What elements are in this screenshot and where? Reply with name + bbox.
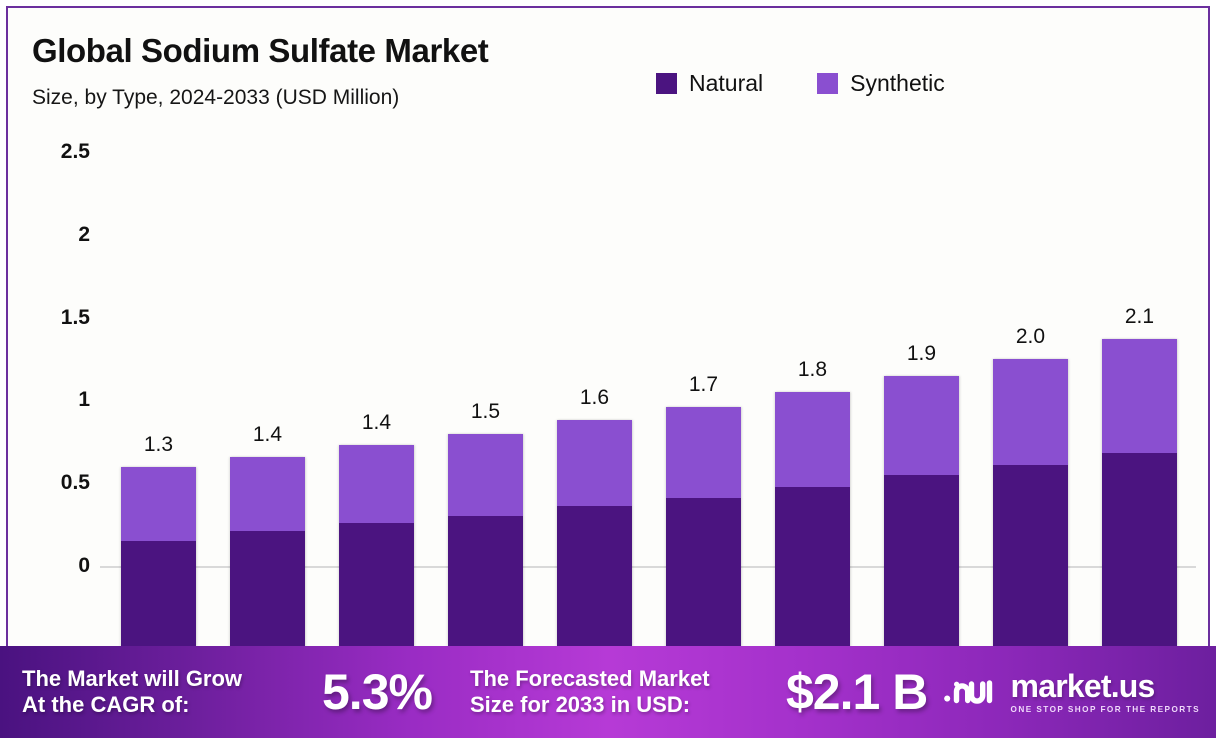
cagr-caption: The Market will Grow At the CAGR of: [22,666,242,718]
stacked-bar[interactable] [448,434,523,682]
bar-series-container: 1.31.41.41.51.61.71.81.92.02.1 [104,128,1194,730]
bar-group[interactable]: 1.9 [884,376,959,682]
y-axis-tick: 1.5 [61,306,90,330]
stacked-bar[interactable] [884,376,959,682]
legend-swatch-natural [656,73,677,94]
y-axis-tick: 1 [78,388,90,412]
stacked-bar[interactable] [993,359,1068,682]
forecast-size-caption-line2: Size for 2033 in USD: [470,692,710,718]
bar-value-label: 1.4 [207,423,327,447]
bar-value-label: 1.3 [98,433,218,457]
forecast-size-value: $2.1 B [786,667,927,717]
bar-group[interactable]: 2.0 [993,359,1068,682]
bar-segment-synthetic[interactable] [557,420,632,506]
bar-group[interactable]: 1.7 [666,407,741,682]
y-axis-tick: 0.5 [61,471,90,495]
page-subtitle: Size, by Type, 2024-2033 (USD Million) [32,86,399,110]
forecast-size-caption-line1: The Forecasted Market [470,666,710,692]
stacked-bar[interactable] [1102,339,1177,682]
stacked-bar[interactable] [775,392,850,682]
bar-segment-synthetic[interactable] [666,407,741,498]
bar-segment-synthetic[interactable] [121,467,196,542]
bar-group[interactable]: 1.6 [557,420,632,682]
y-axis-tick: 2.5 [61,140,90,164]
brand-tagline: ONE STOP SHOP FOR THE REPORTS [1011,705,1200,714]
brand-name: market.us [1011,670,1200,702]
bar-segment-synthetic[interactable] [775,392,850,486]
stacked-bar[interactable] [557,420,632,682]
y-axis: 00.511.522.5 [8,128,104,730]
bar-segment-synthetic[interactable] [993,359,1068,465]
bar-segment-synthetic[interactable] [339,445,414,523]
bar-value-label: 2.0 [970,325,1090,349]
bar-segment-synthetic[interactable] [448,434,523,517]
market-us-logo-icon [943,672,999,712]
legend-item-natural[interactable]: Natural [656,70,763,97]
bar-segment-synthetic[interactable] [1102,339,1177,453]
bar-value-label: 1.7 [643,373,763,397]
legend-label-synthetic: Synthetic [850,70,945,97]
legend-label-natural: Natural [689,70,763,97]
chart-infographic: Global Sodium Sulfate Market Size, by Ty… [0,0,1216,738]
forecast-size-caption: The Forecasted Market Size for 2033 in U… [470,666,710,718]
bar-group[interactable]: 1.8 [775,392,850,682]
bar-group[interactable]: 1.5 [448,434,523,682]
chart-legend: Natural Synthetic [656,70,945,97]
bar-value-label: 1.5 [425,400,545,424]
plot-area: 00.511.522.5 1.31.41.41.51.61.71.81.92.0… [8,128,1208,730]
bar-value-label: 1.9 [861,342,981,366]
bar-value-label: 2.1 [1079,305,1199,329]
page-title: Global Sodium Sulfate Market [32,32,488,70]
y-axis-tick: 2 [78,223,90,247]
bar-segment-synthetic[interactable] [884,376,959,475]
bar-value-label: 1.4 [316,411,436,435]
bar-segment-synthetic[interactable] [230,457,305,532]
chart-card: Global Sodium Sulfate Market Size, by Ty… [6,6,1210,732]
legend-item-synthetic[interactable]: Synthetic [817,70,945,97]
cagr-caption-line2: At the CAGR of: [22,692,242,718]
stacked-bar[interactable] [666,407,741,682]
footer-banner: The Market will Grow At the CAGR of: 5.3… [0,646,1216,738]
bar-group[interactable]: 2.1 [1102,339,1177,682]
cagr-caption-line1: The Market will Grow [22,666,242,692]
chart-header: Global Sodium Sulfate Market Size, by Ty… [8,8,1208,128]
cagr-value: 5.3% [322,667,432,717]
brand-logo[interactable]: market.us ONE STOP SHOP FOR THE REPORTS [943,670,1200,714]
bar-value-label: 1.6 [534,386,654,410]
brand-text: market.us ONE STOP SHOP FOR THE REPORTS [1011,670,1200,714]
legend-swatch-synthetic [817,73,838,94]
y-axis-tick: 0 [78,554,90,578]
bar-value-label: 1.8 [752,358,872,382]
